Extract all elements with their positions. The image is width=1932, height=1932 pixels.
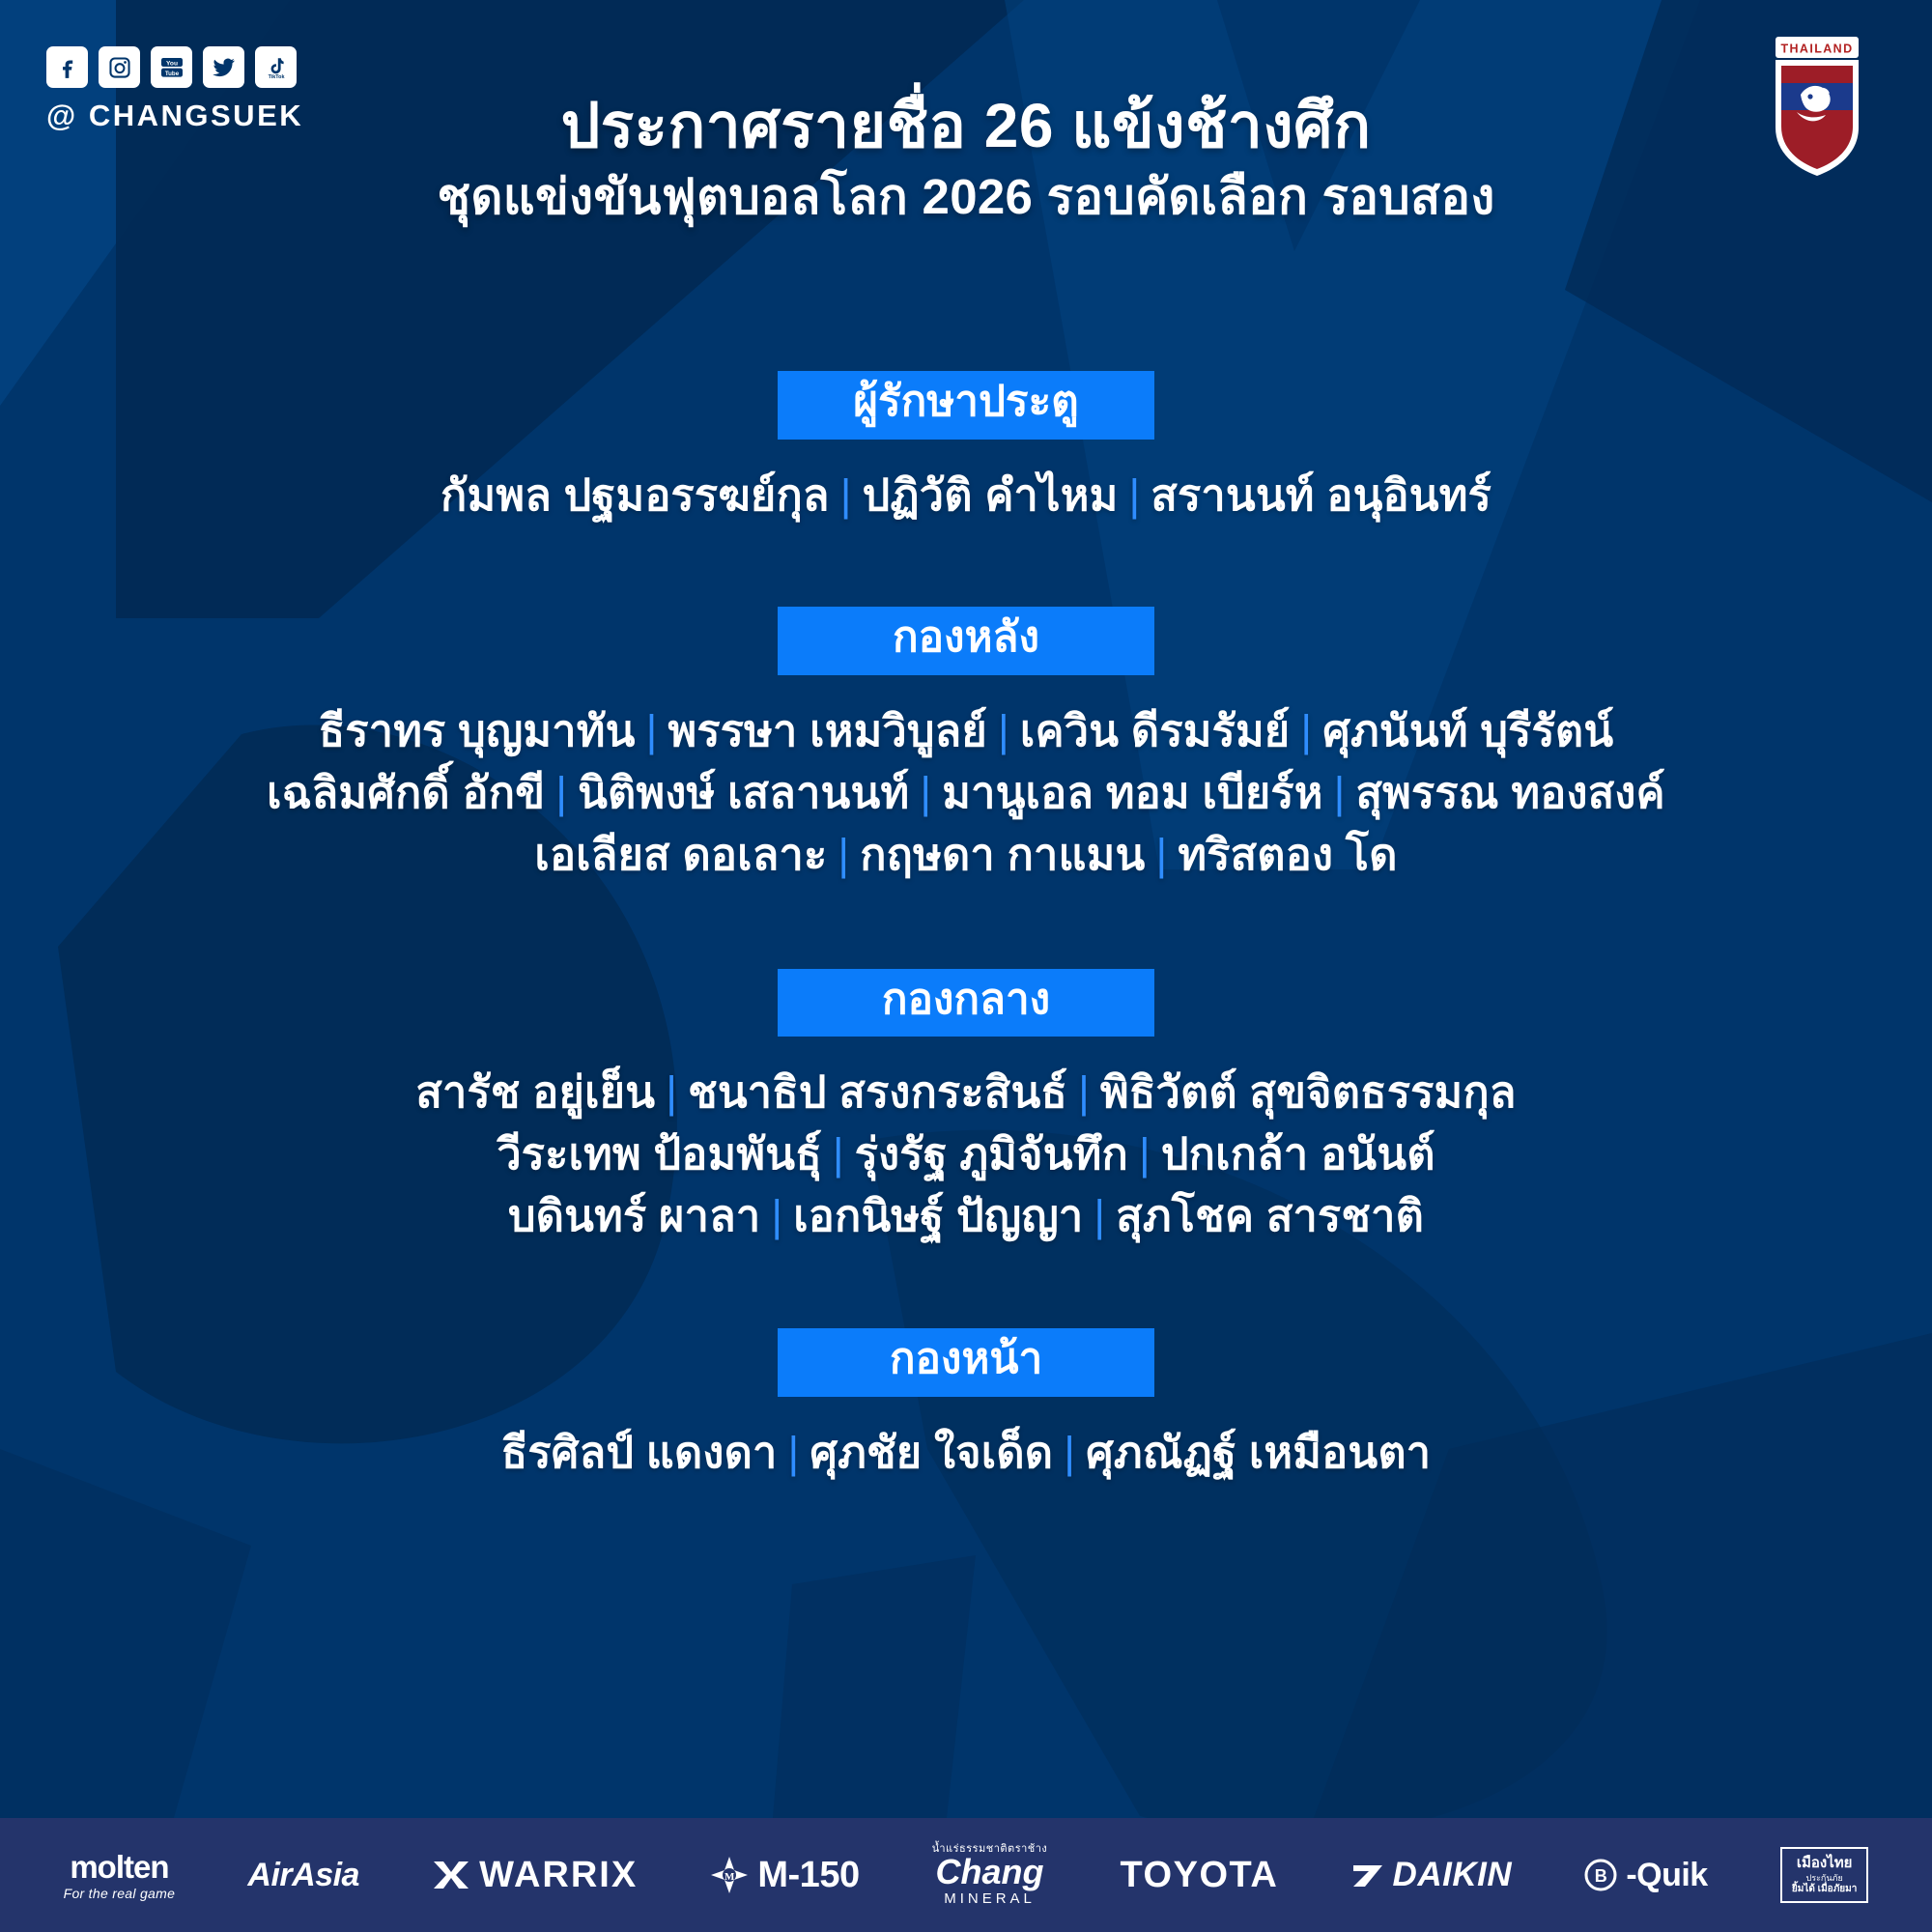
name-separator: | xyxy=(987,706,1020,755)
name-separator: | xyxy=(830,470,863,520)
name-separator: | xyxy=(778,1428,810,1477)
svg-text:THAILAND: THAILAND xyxy=(1780,43,1853,56)
name-separator: | xyxy=(827,830,860,879)
player-row: เอเลียส ดอเลาะ|กฤษดา กาแมน|ทริสตอง โด xyxy=(0,824,1932,886)
sponsor-warrix-name: WARRIX xyxy=(479,1855,638,1896)
svg-text:Tube: Tube xyxy=(164,71,179,77)
name-separator: | xyxy=(1128,1129,1161,1179)
sponsor-molten-tagline: For the real game xyxy=(64,1887,176,1900)
name-separator: | xyxy=(1118,470,1151,520)
sponsor-chang-name: Chang xyxy=(936,1855,1044,1889)
player-name: ธีราทร บุญมาทัน xyxy=(319,706,636,755)
player-name: ปฏิวัติ คำไหม xyxy=(863,470,1119,520)
sponsor-molten: molten For the real game xyxy=(64,1851,176,1900)
player-name: ศุภณัฏฐ์ เหมือนตา xyxy=(1086,1428,1431,1477)
player-name: กัมพล ปฐมอรรฆย์กุล xyxy=(440,470,830,520)
player-name: สารัช อยู่เย็น xyxy=(415,1067,655,1117)
name-separator: | xyxy=(822,1129,855,1179)
page-title: ประกาศรายชื่อ 26 แข้งช้างศึก xyxy=(0,93,1932,159)
name-separator: | xyxy=(1323,768,1356,817)
sponsor-warrix: WARRIX xyxy=(432,1855,638,1896)
sponsor-daikin-name: DAIKIN xyxy=(1393,1856,1513,1894)
player-name: ปกเกล้า อนันต์ xyxy=(1161,1129,1435,1179)
sponsor-chang-sub: MINERAL xyxy=(944,1891,1036,1906)
player-name: สุพรรณ ทองสงค์ xyxy=(1356,768,1665,817)
section-badge-defenders: กองหลัง xyxy=(778,607,1154,675)
sponsor-m150-name: M-150 xyxy=(757,1855,859,1896)
tiktok-icon[interactable]: TikTok xyxy=(255,46,297,88)
player-name: เอเลียส ดอเลาะ xyxy=(534,830,827,879)
name-separator: | xyxy=(1067,1067,1100,1117)
player-name: เอกนิษฐ์ ปัญญา xyxy=(793,1191,1083,1240)
svg-text:TikTok: TikTok xyxy=(268,74,284,80)
player-row: บดินทร์ ผาลา|เอกนิษฐ์ ปัญญา|สุภโชค สารชา… xyxy=(0,1185,1932,1247)
warrix-mark-icon xyxy=(432,1858,470,1892)
sponsor-airasia: AirAsia xyxy=(247,1857,359,1894)
sponsor-chang: น้ำแร่ธรรมชาติตราช้าง Chang MINERAL xyxy=(932,1844,1048,1906)
sponsor-m150: M M-150 xyxy=(710,1855,859,1896)
thailand-fa-crest: THAILAND xyxy=(1758,35,1876,180)
name-separator: | xyxy=(1146,830,1179,879)
sponsor-molten-name: molten xyxy=(70,1851,168,1883)
player-name: ศุภนันท์ บุรีรัตน์ xyxy=(1322,706,1613,755)
name-separator: | xyxy=(545,768,578,817)
player-name: พิธิวัตต์ สุขจิตธรรมกุล xyxy=(1100,1067,1517,1117)
sponsor-bquik-name: -Quik xyxy=(1626,1857,1707,1894)
player-name: ธีรศิลป์ แดงดา xyxy=(501,1428,778,1477)
name-separator: | xyxy=(636,706,668,755)
sponsor-muangthai: เมืองไทย ประกันภัย ยิ้มได้ เมื่อภัยมา xyxy=(1780,1847,1868,1904)
player-name: เฉลิมศักดิ์ อักขี xyxy=(267,768,545,817)
player-name: เควิน ดีรมรัมย์ xyxy=(1020,706,1290,755)
name-separator: | xyxy=(655,1067,688,1117)
player-row: วีระเทพ ป้อมพันธุ์|รุ่งรัฐ ภูมิจันทึก|ปก… xyxy=(0,1123,1932,1185)
sponsor-airasia-name: AirAsia xyxy=(247,1857,359,1894)
bquik-circle-icon: B xyxy=(1584,1859,1617,1891)
youtube-icon[interactable]: You Tube xyxy=(151,46,192,88)
name-separator: | xyxy=(760,1191,793,1240)
twitter-icon[interactable] xyxy=(203,46,244,88)
section-badge-midfielders: กองกลาง xyxy=(778,969,1154,1037)
page-subtitle: ชุดแข่งขันฟุตบอลโลก 2026 รอบคัดเลือก รอบ… xyxy=(0,167,1932,226)
squad-sections: ผู้รักษาประตูกัมพล ปฐมอรรฆย์กุล|ปฏิวัติ … xyxy=(0,319,1932,1484)
player-name: รุ่งรัฐ ภูมิจันทึก xyxy=(855,1129,1128,1179)
player-name: สรานนท์ อนุอินทร์ xyxy=(1151,470,1492,520)
instagram-icon[interactable] xyxy=(99,46,140,88)
name-separator: | xyxy=(909,768,942,817)
facebook-icon[interactable] xyxy=(46,46,88,88)
name-separator: | xyxy=(1083,1191,1116,1240)
sponsor-muangthai-line3: ยิ้มได้ เมื่อภัยมา xyxy=(1792,1884,1857,1896)
sponsor-daikin: DAIKIN xyxy=(1351,1856,1513,1894)
title-block: ประกาศรายชื่อ 26 แข้งช้างศึก ชุดแข่งขันฟ… xyxy=(0,93,1932,226)
player-name: วีระเทพ ป้อมพันธุ์ xyxy=(497,1129,822,1179)
player-name: นิติพงษ์ เสลานนท์ xyxy=(578,768,909,817)
svg-text:B: B xyxy=(1595,1866,1607,1886)
sponsor-muangthai-name: เมืองไทย xyxy=(1797,1855,1853,1873)
player-name: สุภโชค สารชาติ xyxy=(1116,1191,1424,1240)
section-defenders: กองหลังธีราทร บุญมาทัน|พรรษา เหมวิบูลย์|… xyxy=(0,607,1932,885)
player-list-midfielders: สารัช อยู่เย็น|ชนาธิป สรงกระสินธ์|พิธิวั… xyxy=(0,1062,1932,1247)
player-row: เฉลิมศักดิ์ อักขี|นิติพงษ์ เสลานนท์|มานู… xyxy=(0,762,1932,824)
player-name: ทริสตอง โด xyxy=(1178,830,1397,879)
player-name: ชนาธิป สรงกระสินธ์ xyxy=(688,1067,1067,1117)
m150-star-icon: M xyxy=(710,1856,749,1894)
page-header: You Tube TikTok @ CHANGSUEK ประกาศรายชื่… xyxy=(0,0,1932,319)
section-goalkeepers: ผู้รักษาประตูกัมพล ปฐมอรรฆย์กุล|ปฏิวัติ … xyxy=(0,371,1932,526)
player-name: พรรษา เหมวิบูลย์ xyxy=(668,706,987,755)
sponsor-bquik: B -Quik xyxy=(1584,1857,1707,1894)
social-icon-row: You Tube TikTok xyxy=(46,46,303,88)
player-list-defenders: ธีราทร บุญมาทัน|พรรษา เหมวิบูลย์|เควิน ด… xyxy=(0,700,1932,886)
sponsor-toyota: TOYOTA xyxy=(1121,1855,1279,1896)
player-row: สารัช อยู่เย็น|ชนาธิป สรงกระสินธ์|พิธิวั… xyxy=(0,1062,1932,1123)
sponsor-muangthai-line2: ประกันภัย xyxy=(1806,1873,1843,1884)
player-name: บดินทร์ ผาลา xyxy=(508,1191,760,1240)
svg-text:You: You xyxy=(166,60,178,67)
player-name: กฤษดา กาแมน xyxy=(860,830,1145,879)
player-row: กัมพล ปฐมอรรฆย์กุล|ปฏิวัติ คำไหม|สรานนท์… xyxy=(0,465,1932,526)
player-name: ศุภชัย ใจเด็ด xyxy=(810,1428,1053,1477)
sponsor-toyota-name: TOYOTA xyxy=(1121,1855,1279,1896)
player-list-goalkeepers: กัมพล ปฐมอรรฆย์กุล|ปฏิวัติ คำไหม|สรานนท์… xyxy=(0,465,1932,526)
player-name: มานูเอล ทอม เบียร์ห xyxy=(942,768,1322,817)
section-badge-forwards: กองหน้า xyxy=(778,1328,1154,1397)
svg-text:M: M xyxy=(724,1871,735,1883)
daikin-mark-icon xyxy=(1351,1861,1384,1889)
sponsor-bar: molten For the real game AirAsia WARRIX … xyxy=(0,1818,1932,1932)
section-forwards: กองหน้าธีรศิลป์ แดงดา|ศุภชัย ใจเด็ด|ศุภณ… xyxy=(0,1328,1932,1483)
name-separator: | xyxy=(1053,1428,1086,1477)
player-list-forwards: ธีรศิลป์ แดงดา|ศุภชัย ใจเด็ด|ศุภณัฏฐ์ เห… xyxy=(0,1422,1932,1484)
section-badge-goalkeepers: ผู้รักษาประตู xyxy=(778,371,1154,440)
name-separator: | xyxy=(1290,706,1322,755)
player-row: ธีราทร บุญมาทัน|พรรษา เหมวิบูลย์|เควิน ด… xyxy=(0,700,1932,762)
section-midfielders: กองกลางสารัช อยู่เย็น|ชนาธิป สรงกระสินธ์… xyxy=(0,969,1932,1247)
player-row: ธีรศิลป์ แดงดา|ศุภชัย ใจเด็ด|ศุภณัฏฐ์ เห… xyxy=(0,1422,1932,1484)
